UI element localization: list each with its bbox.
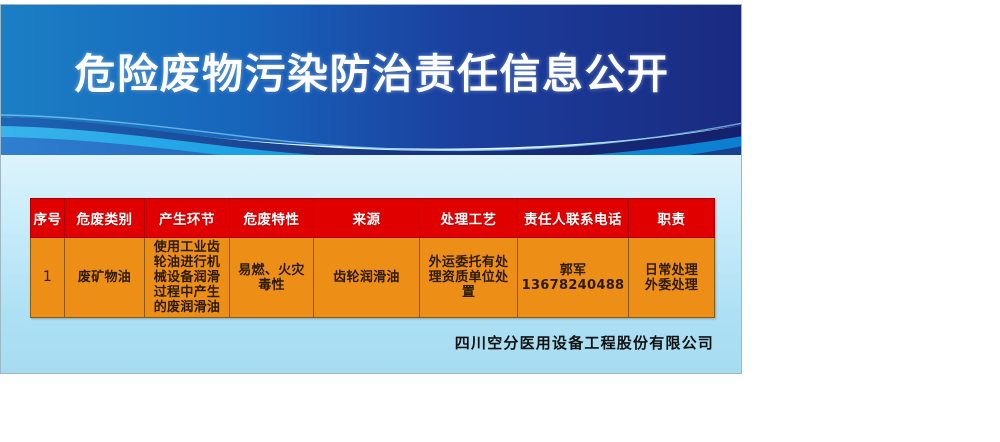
- duty-line-2: 外委处理: [631, 278, 712, 293]
- column-header-stage: 产生环节: [145, 199, 230, 238]
- cell-responsible-contact: 郭军 13678240488: [518, 238, 629, 318]
- responsible-person-phone: 13678240488: [520, 278, 626, 293]
- responsible-person-name: 郭军: [520, 263, 626, 278]
- column-header-duty: 职责: [629, 199, 715, 238]
- column-header-treatment: 处理工艺: [420, 199, 518, 238]
- cell-source: 齿轮润滑油: [314, 238, 420, 318]
- cell-seq: 1: [31, 238, 65, 318]
- cell-duty: 日常处理 外委处理: [629, 238, 715, 318]
- company-name: 四川空分医用设备工程股份有限公司: [1, 332, 714, 353]
- hazardous-waste-table: 序号 危废类别 产生环节 危废特性 来源 处理工艺 责任人联系电话 职责 1 废…: [30, 198, 715, 318]
- header-banner: 危险废物污染防治责任信息公开: [1, 5, 742, 155]
- column-header-source: 来源: [314, 199, 420, 238]
- information-disclosure-poster: 危险废物污染防治责任信息公开 序号 危废类别 产生环节 危废特性 来源 处理工艺…: [0, 4, 742, 374]
- cell-treatment-process: 外运委托有处理资质单位处置: [420, 238, 518, 318]
- duty-line-1: 日常处理: [631, 263, 712, 278]
- table-row: 1 废矿物油 使用工业齿轮油进行机械设备润滑过程中产生的废润滑油 易燃、火灾毒性…: [31, 238, 715, 318]
- column-header-hazard: 危废特性: [230, 199, 314, 238]
- cell-hazard-property: 易燃、火灾毒性: [230, 238, 314, 318]
- column-header-seq: 序号: [31, 199, 65, 238]
- column-header-phone: 责任人联系电话: [518, 199, 629, 238]
- page-title: 危险废物污染防治责任信息公开: [1, 48, 742, 100]
- column-header-category: 危废类别: [65, 199, 145, 238]
- table-header-row: 序号 危废类别 产生环节 危废特性 来源 处理工艺 责任人联系电话 职责: [31, 199, 715, 238]
- cell-category: 废矿物油: [65, 238, 145, 318]
- cell-generation-stage: 使用工业齿轮油进行机械设备润滑过程中产生的废润滑油: [145, 238, 230, 318]
